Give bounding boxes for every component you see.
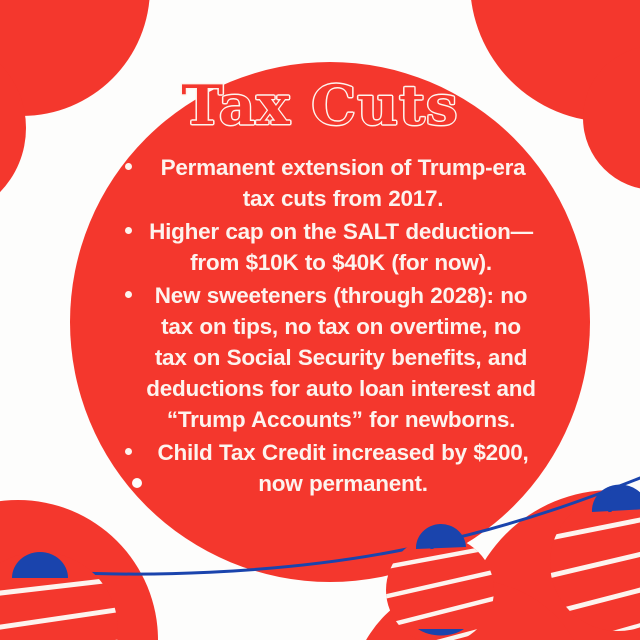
poster-canvas: Tax Cuts Permanent extension of Trump-er…	[0, 0, 640, 640]
lantern-left	[0, 552, 130, 640]
lantern-garland	[0, 0, 640, 640]
lantern-middle	[370, 524, 520, 640]
garland-wire	[0, 474, 640, 574]
